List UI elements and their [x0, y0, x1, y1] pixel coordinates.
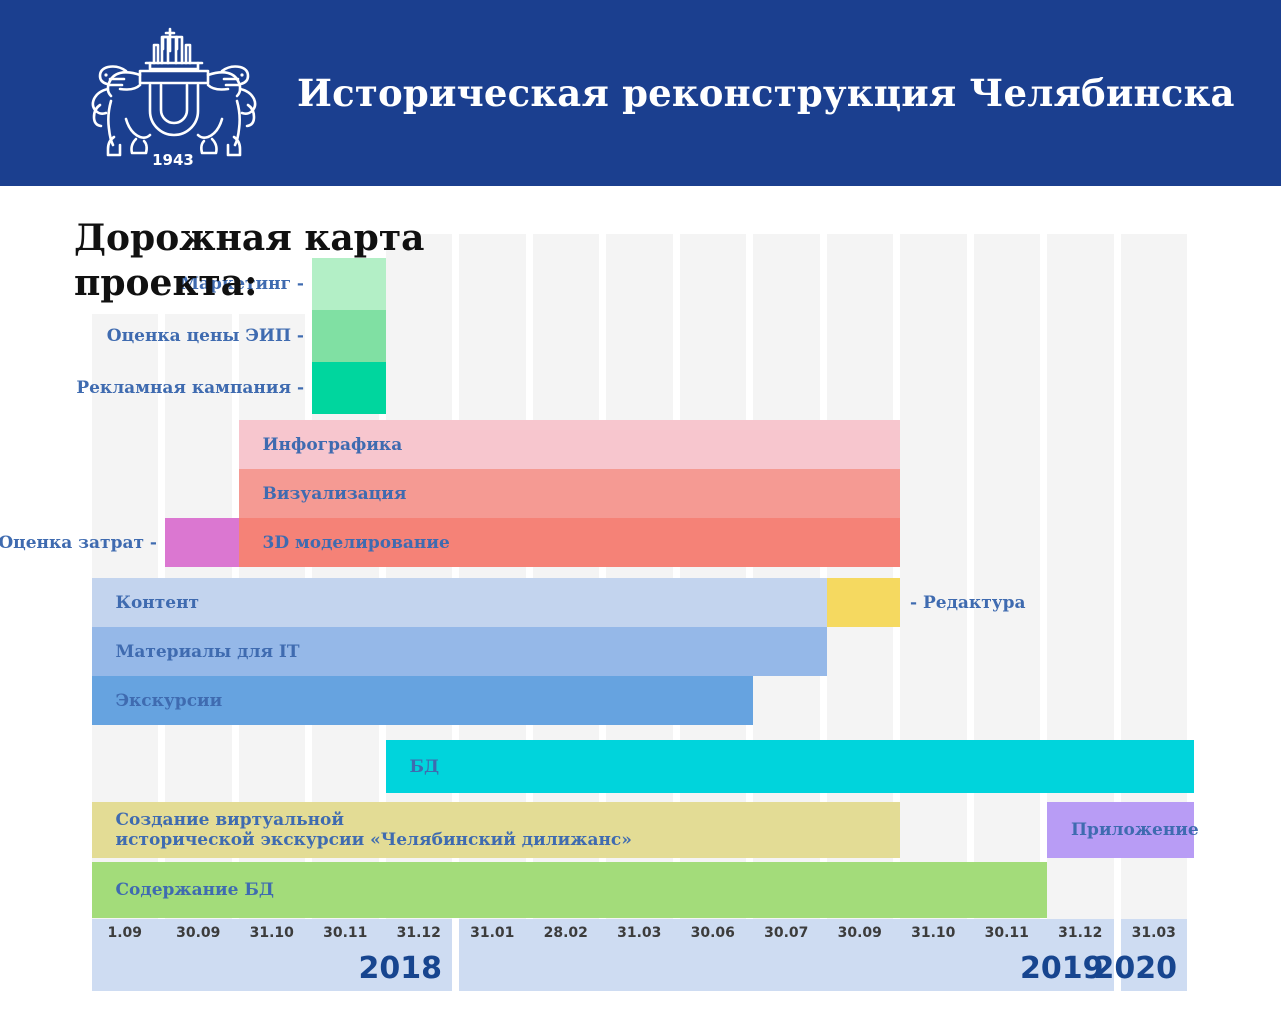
coat-of-arms-logo: 1943 [66, 19, 281, 169]
gantt-bars: Маркетинг -Оценка цены ЭИП -Рекламная ка… [88, 234, 1200, 991]
logo-year-text: 1943 [152, 151, 194, 169]
gantt-outside-label: Рекламная кампания - [76, 363, 304, 413]
axis-tick-label: 30.11 [974, 925, 1041, 941]
axis-tick-label: 31.10 [900, 925, 967, 941]
gantt-bar[interactable]: Визуализация [239, 469, 901, 518]
gantt-bar-label: 3D моделирование [239, 533, 450, 553]
axis-tick-label: 30.09 [165, 925, 232, 941]
gantt-bar[interactable]: Инфографика [239, 420, 901, 469]
gantt-bar[interactable]: Приложение [1047, 802, 1194, 858]
gantt-bar-label: Экскурсии [92, 691, 223, 711]
roadmap-title: Дорожная карта проекта: [74, 216, 494, 306]
gantt-bar[interactable] [827, 578, 901, 627]
page-header: 1943 Историческая реконструкция Челябинс… [0, 0, 1281, 186]
axis-tick-label: 31.12 [386, 925, 453, 941]
axis-year-label: 2018 [359, 951, 443, 986]
gantt-bar[interactable]: Содержание БД [92, 862, 1048, 918]
axis-tick-label: 1.09 [92, 925, 159, 941]
axis-tick-label: 31.10 [239, 925, 306, 941]
gantt-bar[interactable]: Контент [92, 578, 827, 627]
gantt-bar-label: Создание виртуальной исторической экскур… [92, 810, 632, 850]
gantt-bar-label: Приложение [1047, 820, 1199, 840]
gantt-bar[interactable]: Экскурсии [92, 676, 754, 725]
gantt-chart: Маркетинг -Оценка цены ЭИП -Рекламная ка… [88, 234, 1200, 991]
gantt-bar-label: Содержание БД [92, 880, 275, 900]
gantt-bar-label: Визуализация [239, 484, 407, 504]
axis-tick-label: 30.07 [753, 925, 820, 941]
gantt-outside-label: Оценка затрат - [0, 518, 157, 568]
logo-shield-u [140, 71, 208, 135]
axis-tick-label: 31.12 [1047, 925, 1114, 941]
timeline-axis: 1.0930.0931.1030.1131.12201831.0128.0231… [88, 919, 1200, 991]
gantt-bar[interactable] [165, 518, 239, 567]
axis-year-label: 2020 [1094, 951, 1178, 986]
axis-tick-label: 31.03 [1121, 925, 1188, 941]
axis-tick-label: 30.11 [312, 925, 379, 941]
logo-lion-left [93, 67, 150, 156]
axis-year-block: 31.032020 [1121, 919, 1188, 991]
axis-year-label: 2019 [1020, 951, 1104, 986]
axis-tick-label: 30.09 [827, 925, 894, 941]
gantt-bar-label: Инфографика [239, 435, 403, 455]
gantt-outside-label: - Редактура [910, 578, 1026, 628]
logo-tower [146, 29, 202, 69]
axis-year-block: 1.0930.0931.1030.1131.122018 [92, 919, 453, 991]
gantt-bar-label: Материалы для IT [92, 642, 300, 662]
gantt-bar[interactable]: 3D моделирование [239, 518, 901, 567]
gantt-bar[interactable] [312, 362, 386, 414]
axis-tick-label: 31.03 [606, 925, 673, 941]
page-title: Историческая реконструкция Челябинска [297, 71, 1235, 115]
axis-year-block: 31.0128.0231.0330.0630.0730.0931.1030.11… [459, 919, 1114, 991]
gantt-bar-label: Контент [92, 593, 200, 613]
gantt-outside-label: Оценка цены ЭИП - [107, 311, 304, 361]
gantt-bar[interactable]: Материалы для IT [92, 627, 827, 676]
gantt-bar-label: БД [386, 757, 440, 777]
gantt-bar[interactable]: Создание виртуальной исторической экскур… [92, 802, 901, 858]
gantt-bar[interactable]: БД [386, 740, 1195, 793]
axis-tick-label: 30.06 [680, 925, 747, 941]
gantt-bar[interactable] [312, 310, 386, 362]
axis-tick-label: 31.01 [459, 925, 526, 941]
logo-lion-right [198, 67, 255, 156]
axis-tick-label: 28.02 [533, 925, 600, 941]
